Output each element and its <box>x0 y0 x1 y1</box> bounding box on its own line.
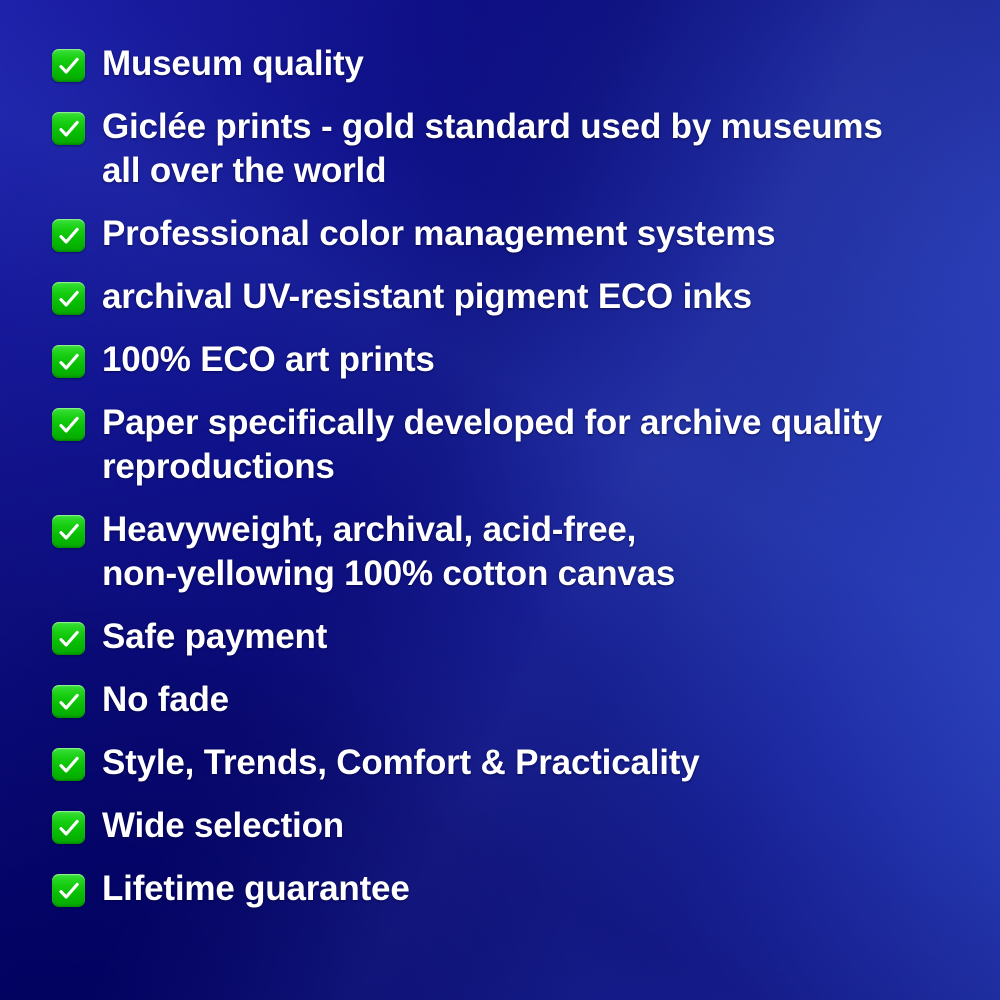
feature-label: Heavyweight, archival, acid-free, non-ye… <box>102 508 675 596</box>
list-item: Heavyweight, archival, acid-free, non-ye… <box>52 508 980 596</box>
feature-list: Museum quality Giclée prints - gold stan… <box>0 0 1000 911</box>
list-item: Giclée prints - gold standard used by mu… <box>52 105 980 193</box>
feature-label: archival UV-resistant pigment ECO inks <box>102 275 752 319</box>
list-item: Paper specifically developed for archive… <box>52 401 980 489</box>
list-item: 100% ECO art prints <box>52 338 980 382</box>
check-square-icon <box>52 282 85 315</box>
check-square-icon <box>52 685 85 718</box>
check-square-icon <box>52 219 85 252</box>
list-item: Safe payment <box>52 615 980 659</box>
list-item: archival UV-resistant pigment ECO inks <box>52 275 980 319</box>
feature-label: Style, Trends, Comfort & Practicality <box>102 741 700 785</box>
list-item: Style, Trends, Comfort & Practicality <box>52 741 980 785</box>
list-item: Museum quality <box>52 42 980 86</box>
check-square-icon <box>52 112 85 145</box>
feature-label: No fade <box>102 678 229 722</box>
feature-label: 100% ECO art prints <box>102 338 435 382</box>
feature-label: Professional color management systems <box>102 212 775 256</box>
list-item: Lifetime guarantee <box>52 867 980 911</box>
list-item: Wide selection <box>52 804 980 848</box>
feature-label: Paper specifically developed for archive… <box>102 401 882 489</box>
promo-card: Museum quality Giclée prints - gold stan… <box>0 0 1000 1000</box>
feature-label: Museum quality <box>102 42 364 86</box>
check-square-icon <box>52 345 85 378</box>
list-item: Professional color management systems <box>52 212 980 256</box>
check-square-icon <box>52 515 85 548</box>
feature-label: Lifetime guarantee <box>102 867 410 911</box>
check-square-icon <box>52 748 85 781</box>
check-square-icon <box>52 811 85 844</box>
check-square-icon <box>52 408 85 441</box>
feature-label: Giclée prints - gold standard used by mu… <box>102 105 883 193</box>
check-square-icon <box>52 49 85 82</box>
list-item: No fade <box>52 678 980 722</box>
check-square-icon <box>52 874 85 907</box>
check-square-icon <box>52 622 85 655</box>
feature-label: Safe payment <box>102 615 327 659</box>
feature-label: Wide selection <box>102 804 344 848</box>
